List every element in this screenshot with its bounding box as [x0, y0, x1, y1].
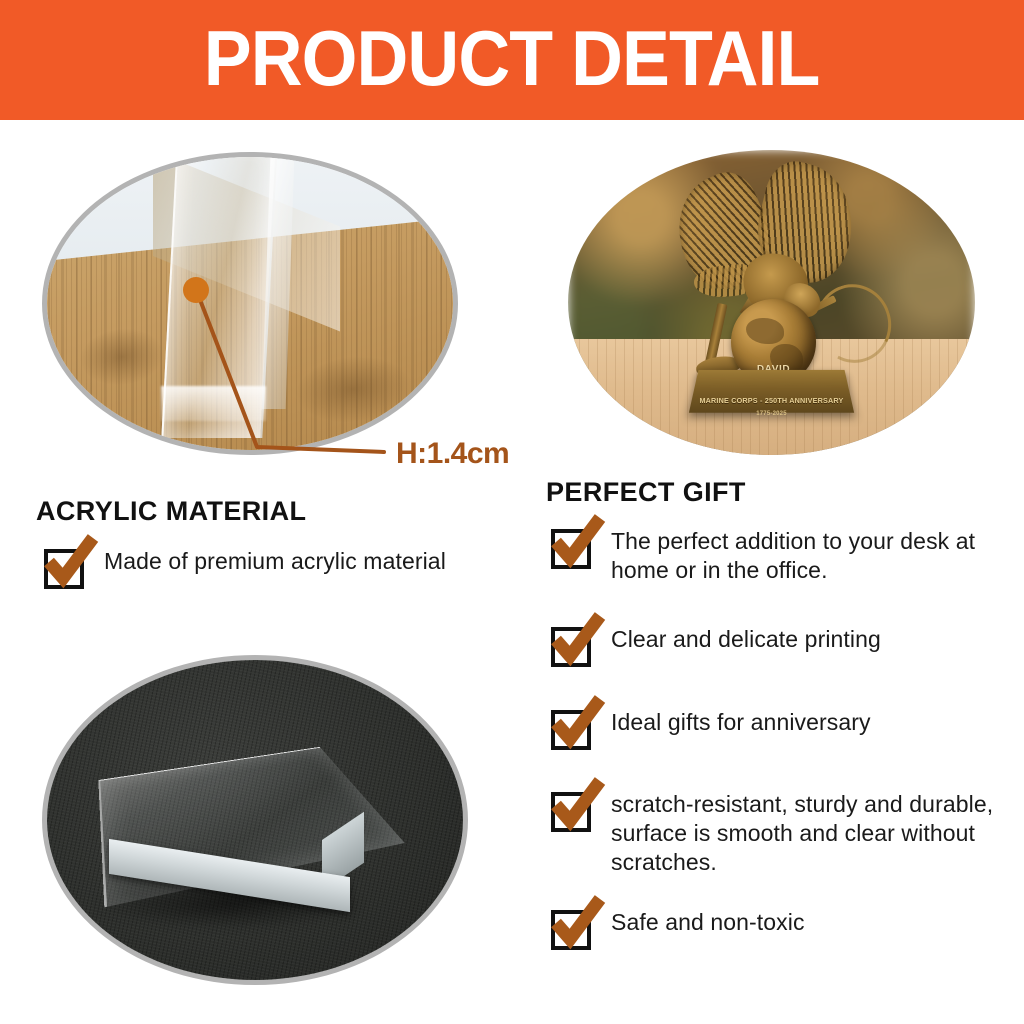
checkbox-checked[interactable]	[551, 792, 591, 832]
checkmark-icon	[550, 779, 606, 831]
bronze-statue: DAVID MARINE CORPS - 250TH ANNIVERSARY 1…	[568, 150, 975, 455]
feature-item: Clear and delicate printing	[551, 625, 1001, 667]
checkmark-icon	[550, 516, 606, 568]
feature-text: Clear and delicate printing	[611, 625, 881, 654]
checkmark-icon	[550, 897, 606, 949]
wood-knot	[77, 324, 167, 390]
page-title: PRODUCT DETAIL	[204, 18, 820, 98]
photo-content: DAVID MARINE CORPS - 250TH ANNIVERSARY 1…	[568, 150, 975, 455]
checkmark-icon	[550, 697, 606, 749]
photo-content	[47, 660, 463, 980]
feature-text: Ideal gifts for anniversary	[611, 708, 871, 737]
plaque-line-1: MARINE CORPS - 250TH ANNIVERSARY	[694, 396, 849, 405]
marine-corps-eagle-statue-photo: DAVID MARINE CORPS - 250TH ANNIVERSARY 1…	[568, 150, 975, 455]
checkmark-icon	[550, 614, 606, 666]
checkbox-checked[interactable]	[551, 627, 591, 667]
callout-label: H:1.4cm	[396, 437, 509, 471]
feature-text: Made of premium acrylic material	[104, 547, 446, 576]
checkbox-checked[interactable]	[551, 910, 591, 950]
checkbox-checked[interactable]	[44, 549, 84, 589]
acrylic-base-highlight	[161, 386, 267, 421]
plaque-line-2: 1775-2025	[694, 411, 849, 417]
globe-landmass	[746, 318, 784, 344]
checkmark-icon	[43, 536, 99, 588]
product-detail-page: PRODUCT DETAIL	[0, 0, 1024, 1024]
acrylic-edge-on-wood-photo	[42, 152, 458, 455]
statue-plaque	[689, 369, 854, 412]
feature-text: Safe and non-toxic	[611, 908, 805, 937]
feature-text: scratch-resistant, sturdy and durable, s…	[611, 790, 1003, 877]
section-heading-perfect-gift: PERFECT GIFT	[546, 477, 746, 508]
feature-item: Safe and non-toxic	[551, 908, 1001, 950]
feature-text: The perfect addition to your desk at hom…	[611, 527, 1001, 585]
photo-content	[47, 157, 453, 450]
section-heading-acrylic-material: ACRYLIC MATERIAL	[36, 496, 306, 527]
rope-detail	[806, 275, 902, 374]
acrylic-block-on-slate-photo	[42, 655, 468, 985]
checkbox-checked[interactable]	[551, 529, 591, 569]
feature-item: Made of premium acrylic material	[44, 547, 514, 589]
feature-item: scratch-resistant, sturdy and durable, s…	[551, 790, 1006, 877]
wood-knot	[293, 351, 415, 429]
page-header-banner: PRODUCT DETAIL	[0, 0, 1024, 120]
feature-item: The perfect addition to your desk at hom…	[551, 527, 1001, 585]
checkbox-checked[interactable]	[551, 710, 591, 750]
feature-item: Ideal gifts for anniversary	[551, 708, 1001, 750]
